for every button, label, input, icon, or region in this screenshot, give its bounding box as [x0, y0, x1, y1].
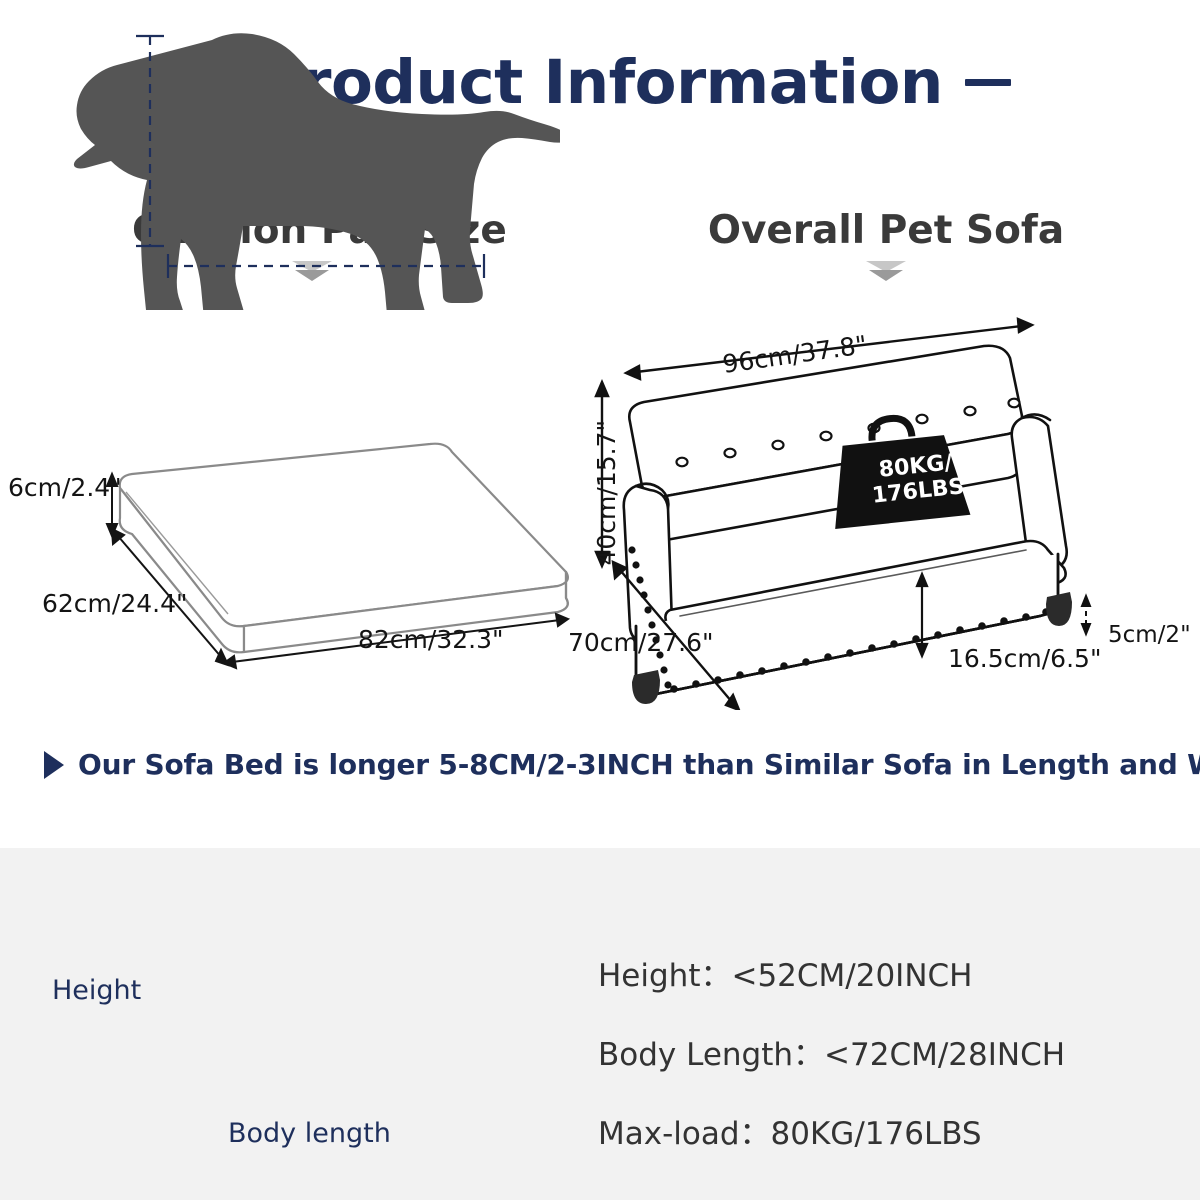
spec-item-body-length: Body Length：<72CM/28INCH [598, 1029, 1158, 1074]
dog-silhouette-icon [74, 33, 560, 310]
sofa-height-label: 40cm/15.7" [592, 420, 621, 566]
highlight-statement: Our Sofa Bed is longer 5-8CM/2-3INCH tha… [44, 748, 1174, 781]
double-chevron-down-icon [866, 261, 906, 287]
dog-height-label: Height [52, 975, 141, 1006]
product-information-infographic: Product Information Cushion Pad Size Ove… [0, 0, 1200, 1200]
pet-spec-list: Height：<52CM/20INCH Body Length：<72CM/28… [598, 950, 1158, 1187]
cushion-length-label: 82cm/32.3" [358, 625, 504, 654]
statement-text: Our Sofa Bed is longer 5-8CM/2-3INCH tha… [78, 748, 1200, 781]
cushion-thickness-label: 6cm/2.4" [8, 473, 122, 502]
sofa-seat-height-label: 16.5cm/6.5" [948, 644, 1101, 673]
title-dash-right-icon [965, 79, 1011, 86]
dog-body-length-label: Body length [228, 1118, 391, 1149]
cushion-pad-illustration [0, 400, 600, 700]
cushion-width-label: 62cm/24.4" [42, 589, 188, 618]
sofa-depth-label: 70cm/27.6" [568, 628, 714, 657]
spec-item-max-load: Max-load：80KG/176LBS [598, 1108, 1158, 1153]
spec-item-height: Height：<52CM/20INCH [598, 950, 1158, 995]
dog-size-diagram [40, 10, 560, 310]
sofa-foot-height-label: 5cm/2" [1108, 622, 1191, 648]
sofa-heading-label: Overall Pet Sofa [706, 208, 1066, 253]
play-triangle-icon [44, 751, 64, 779]
section-heading-sofa: Overall Pet Sofa [706, 208, 1066, 287]
